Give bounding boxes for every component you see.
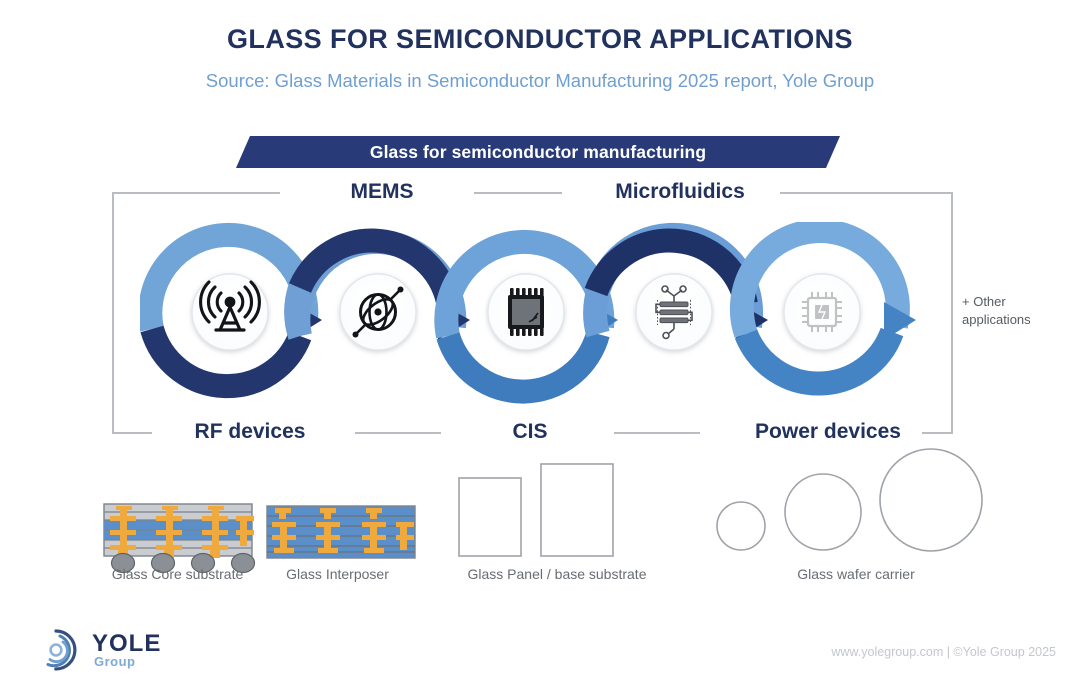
category-label-cis: CIS [452, 420, 608, 444]
glass-interposer-illustration [267, 506, 415, 558]
image-sensor-chip-icon [508, 288, 544, 336]
category-label-mems: MEMS [296, 180, 468, 204]
other-applications-line-2: applications [962, 311, 1072, 329]
bracket-line-bottom-mid-1 [355, 432, 441, 434]
bracket-line-left [112, 192, 114, 434]
footer-credit: www.yolegroup.com | ©Yole Group 2025 [831, 645, 1056, 659]
source-subtitle: Source: Glass Materials in Semiconductor… [0, 70, 1080, 92]
banner-label: Glass for semiconductor manufacturing [236, 136, 840, 168]
bracket-line-top-left [112, 192, 280, 194]
bracket-line-right [951, 192, 953, 434]
category-label-microfluidics: Microfluidics [572, 180, 788, 204]
artifact-caption-glass-panel: Glass Panel / base substrate [432, 566, 682, 582]
artifact-caption-glass-wafer-carrier: Glass wafer carrier [735, 566, 977, 582]
page-title: GLASS FOR SEMICONDUCTOR APPLICATIONS [0, 24, 1080, 55]
other-applications-note: + Other applications [962, 293, 1072, 328]
glass-core-substrate-illustration [104, 504, 255, 573]
glass-wafer-carrier-illustration [717, 449, 982, 551]
bracket-line-bottom-mid-2 [614, 432, 700, 434]
yole-logo[interactable]: YOLE Group [30, 628, 230, 674]
ring-mems-arc-lower-left [296, 288, 300, 336]
yole-spiral-icon [30, 628, 82, 672]
ring-chain-diagram [140, 222, 940, 412]
bracket-line-top-right [780, 192, 953, 194]
other-applications-line-1: + Other [962, 293, 1072, 311]
glass-panel-illustration [459, 464, 613, 556]
yole-logo-subtext: Group [94, 654, 136, 669]
category-label-power-devices: Power devices [712, 420, 944, 444]
category-label-rf-devices: RF devices [150, 420, 350, 444]
bracket-line-bottom-left [112, 432, 152, 434]
artifact-caption-glass-core-substrate: Glass Core substrate [80, 566, 275, 582]
ring-power-devices[interactable] [742, 231, 916, 384]
artifact-caption-glass-interposer: Glass Interposer [255, 566, 420, 582]
bracket-line-top-mid [474, 192, 562, 194]
power-processor-icon [802, 292, 842, 332]
banner: Glass for semiconductor manufacturing [236, 136, 840, 168]
